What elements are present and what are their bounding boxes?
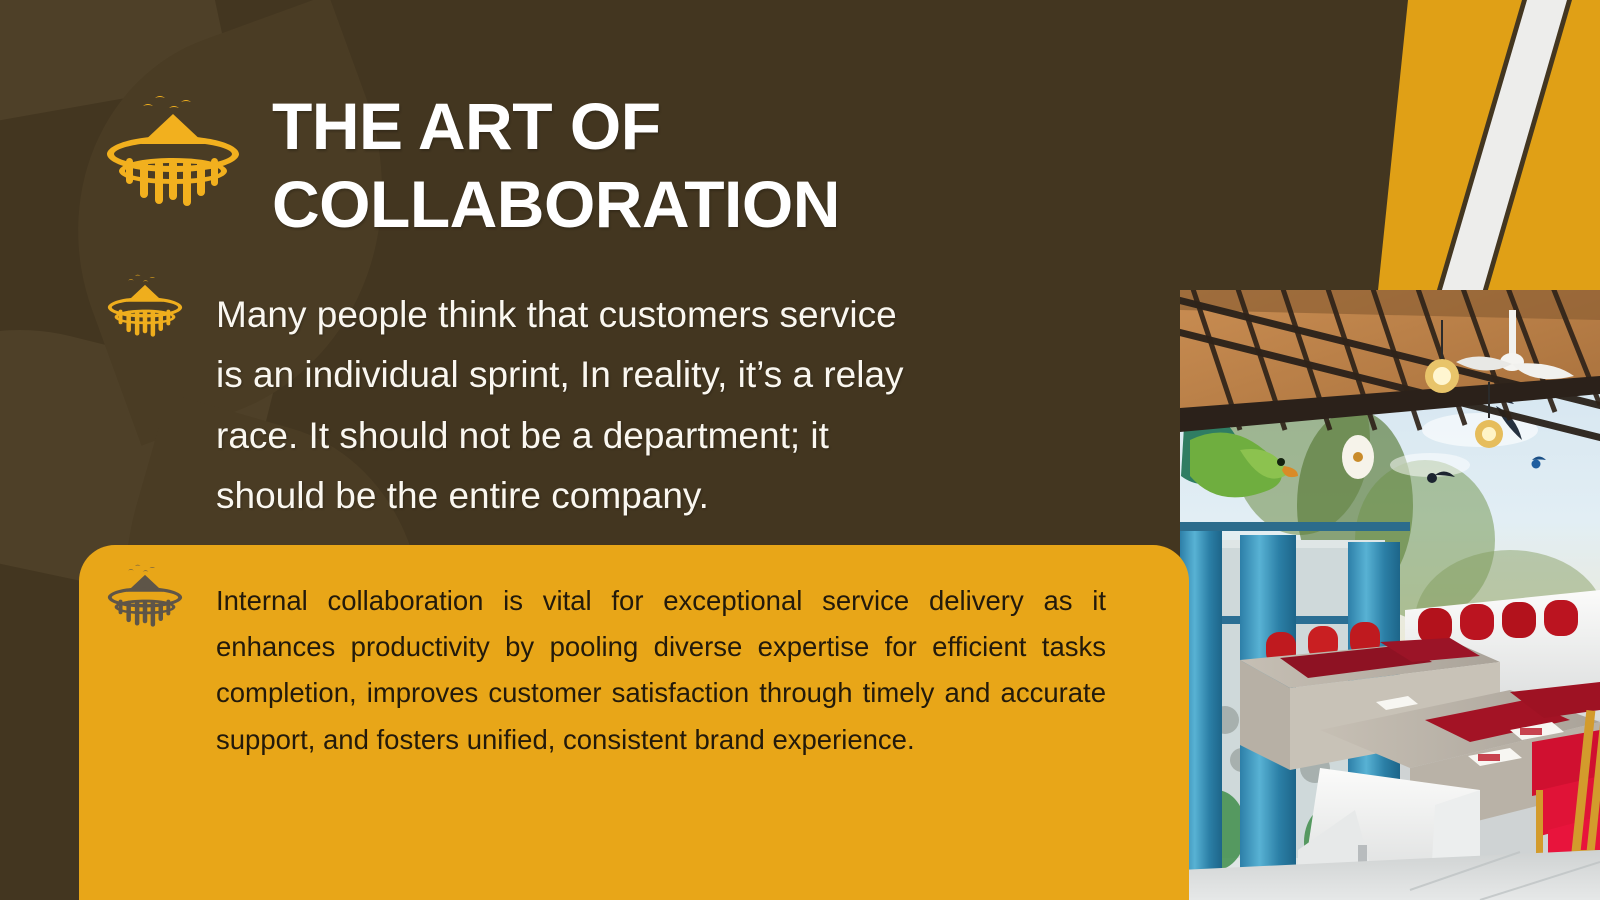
intro-paragraph: Many people think that customers service…: [216, 285, 1106, 526]
slide-title: THE ART OF COLLABORATION: [272, 88, 1132, 244]
gazebo-pavilion-logo-icon: [93, 88, 253, 208]
intro-line: race. It should not be a department; it: [216, 406, 1106, 466]
slide-canvas: THE ART OF COLLABORATION Many people thi…: [0, 0, 1600, 900]
intro-line: Many people think that customers service: [216, 285, 1106, 345]
slide-title-line-2: COLLABORATION: [272, 166, 1132, 244]
intro-line: is an individual sprint, In reality, it’…: [216, 345, 1106, 405]
gazebo-pavilion-logo-icon-muted: [100, 560, 190, 628]
highlight-callout-panel: Internal collaboration is vital for exce…: [79, 545, 1189, 900]
callout-paragraph: Internal collaboration is vital for exce…: [216, 578, 1106, 763]
conference-hall-photo: [1180, 290, 1600, 900]
slide-title-line-1: THE ART OF: [272, 88, 1132, 166]
gazebo-pavilion-logo-icon-small: [100, 270, 190, 338]
intro-line: should be the entire company.: [216, 466, 1106, 526]
